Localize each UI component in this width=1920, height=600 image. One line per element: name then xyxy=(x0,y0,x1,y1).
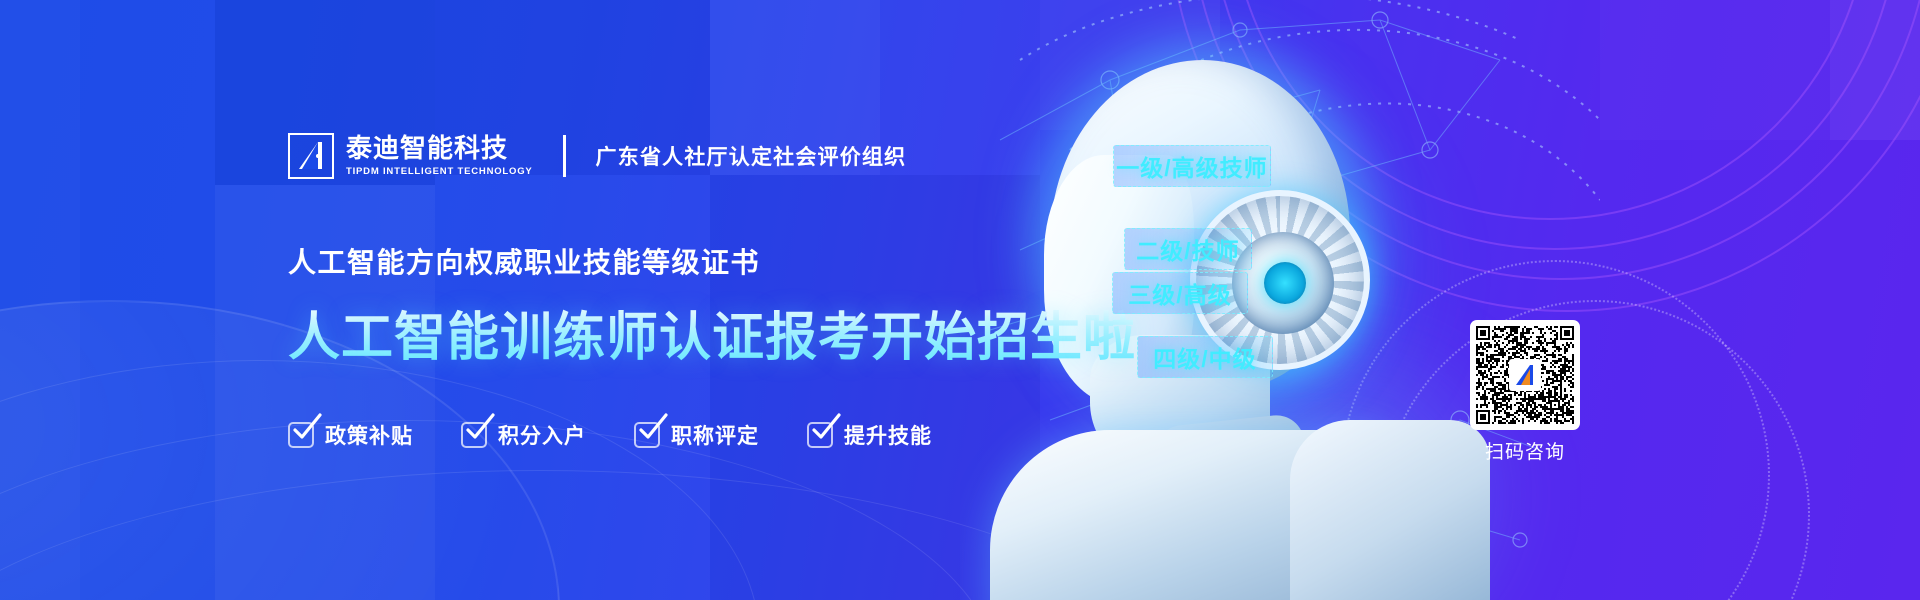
banner-subtitle: 人工智能方向权威职业技能等级证书 xyxy=(288,241,760,281)
feature-label: 政策补贴 xyxy=(325,420,413,450)
organization-label: 广东省人社厅认定社会评价组织 xyxy=(596,141,907,171)
qr-center-logo-icon xyxy=(1509,359,1541,391)
level-tag-3: 三级/高级 xyxy=(1112,272,1248,314)
promo-banner: 泰迪智能科技 TIPDM INTELLIGENT TECHNOLOGY 广东省人… xyxy=(0,0,1920,600)
tipdm-triangle-logo-icon xyxy=(288,133,334,179)
feature-item-title-evaluation: 职称评定 xyxy=(634,420,759,450)
check-box-icon xyxy=(634,422,660,448)
brand-header: 泰迪智能科技 TIPDM INTELLIGENT TECHNOLOGY 广东省人… xyxy=(288,133,906,179)
qr-caption: 扫码咨询 xyxy=(1455,437,1595,464)
feature-label: 提升技能 xyxy=(844,420,932,450)
level-tag-2: 二级/技师 xyxy=(1124,228,1252,270)
feature-item-points-settlement: 积分入户 xyxy=(461,420,586,450)
feature-item-skill-upgrade: 提升技能 xyxy=(807,420,932,450)
check-box-icon xyxy=(461,422,487,448)
feature-item-policy-subsidy: 政策补贴 xyxy=(288,420,413,450)
level-tag-1: 一级/高级技师 xyxy=(1113,145,1271,187)
brand-name-cn: 泰迪智能科技 xyxy=(346,135,533,162)
banner-title: 人工智能训练师认证报考开始招生啦 xyxy=(288,295,1136,370)
robot-head xyxy=(1050,60,1380,480)
header-divider xyxy=(563,135,566,177)
level-tag-4: 四级/中级 xyxy=(1137,336,1273,378)
robot-ear-core xyxy=(1264,262,1306,304)
check-box-icon xyxy=(807,422,833,448)
feature-label: 职称评定 xyxy=(671,420,759,450)
feature-list: 政策补贴 积分入户 职称评定 提升技能 xyxy=(288,420,932,450)
check-box-icon xyxy=(288,422,314,448)
feature-label: 积分入户 xyxy=(498,420,586,450)
qr-code-icon[interactable] xyxy=(1470,320,1580,430)
brand-name-en: TIPDM INTELLIGENT TECHNOLOGY xyxy=(346,166,533,177)
